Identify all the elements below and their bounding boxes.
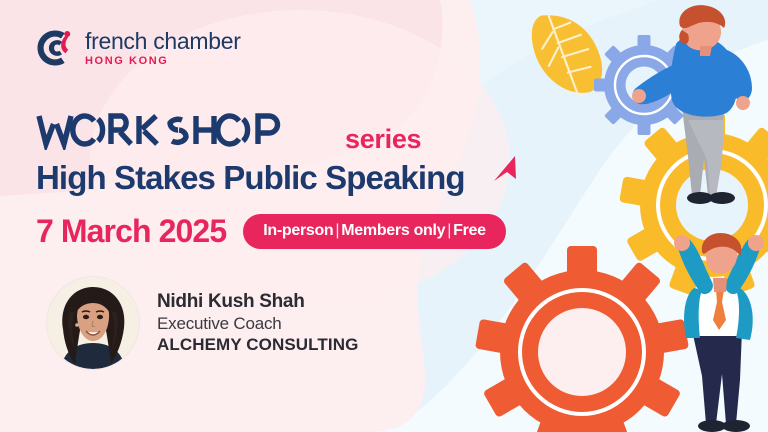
date-and-badge-row: 7 March 2025 In-person|Members only|Free xyxy=(36,213,506,250)
speaker-name: Nidhi Kush Shah xyxy=(157,291,358,313)
french-chamber-logo[interactable]: french chamber HONG KONG xyxy=(34,27,241,69)
badge-separator-2: | xyxy=(445,222,453,239)
event-title: High Stakes Public Speaking xyxy=(36,159,506,197)
speaker-organisation: ALCHEMY CONSULTING xyxy=(157,335,358,355)
speaker-role: Executive Coach xyxy=(157,314,358,334)
badge-part-format: In-person xyxy=(263,222,333,239)
event-date: 7 March 2025 xyxy=(36,213,226,250)
series-label: series xyxy=(345,124,421,155)
badge-separator-1: | xyxy=(333,222,341,239)
avatar xyxy=(47,277,139,369)
speaker-block: Nidhi Kush Shah Executive Coach ALCHEMY … xyxy=(47,277,358,369)
workshop-wordmark xyxy=(36,110,336,150)
logo-location: HONG KONG xyxy=(85,56,241,67)
headline-block: series High Stakes Public Speaking 7 Mar… xyxy=(36,110,506,250)
speaker-details: Nidhi Kush Shah Executive Coach ALCHEMY … xyxy=(157,291,358,356)
workshop-promo-banner: french chamber HONG KONG xyxy=(0,0,768,432)
speaker-portrait xyxy=(47,277,139,369)
workshop-series-line: series xyxy=(36,110,506,154)
logo-name: french chamber xyxy=(85,30,241,53)
status-badge: In-person|Members only|Free xyxy=(243,214,506,249)
badge-part-audience: Members only xyxy=(341,222,445,239)
pink-arrow-accent-icon xyxy=(485,152,525,192)
cci-monogram-icon xyxy=(34,27,76,69)
badge-part-price: Free xyxy=(453,222,486,239)
